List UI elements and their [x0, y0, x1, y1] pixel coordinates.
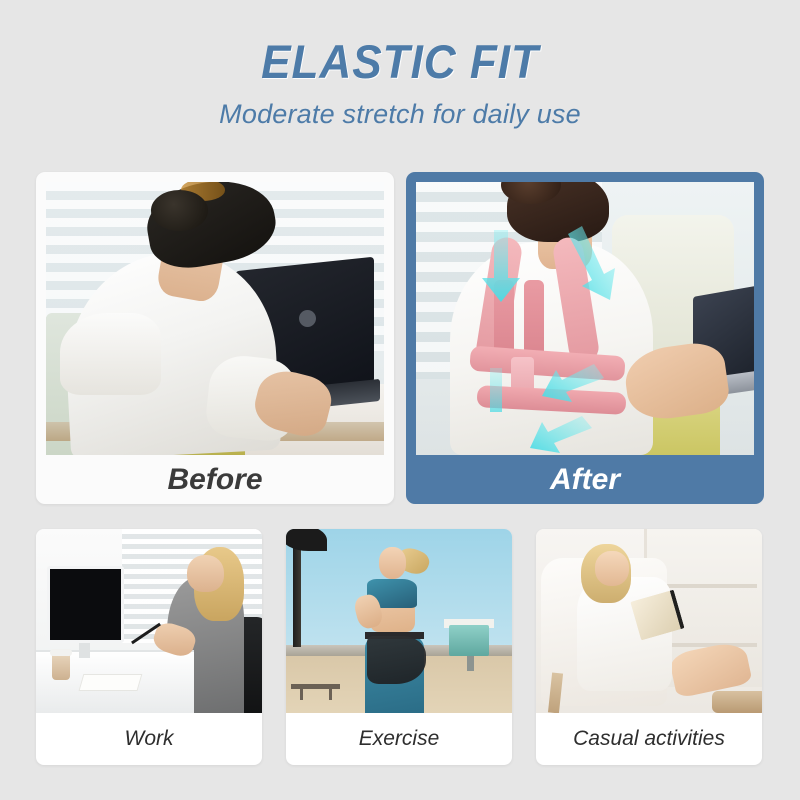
comparison-row: Before: [36, 172, 764, 504]
use-case-card-exercise[interactable]: Exercise: [286, 529, 512, 765]
casual-activities-photo: [536, 529, 762, 713]
use-case-row: Work: [36, 529, 764, 765]
page-title: ELASTIC FIT: [24, 38, 776, 85]
comparison-card-after[interactable]: After: [406, 172, 764, 504]
before-photo: [46, 182, 384, 455]
after-photo: [416, 182, 754, 455]
support-arrows-icon: [416, 182, 754, 455]
page-subtitle: Moderate stretch for daily use: [0, 101, 800, 128]
comparison-card-before[interactable]: Before: [36, 172, 394, 504]
use-case-label-work: Work: [36, 713, 262, 765]
before-label: Before: [46, 455, 384, 504]
use-case-card-casual-activities[interactable]: Casual activities: [536, 529, 762, 765]
use-case-label-casual-activities: Casual activities: [536, 713, 762, 765]
header: ELASTIC FIT Moderate stretch for daily u…: [0, 0, 800, 128]
use-case-label-exercise: Exercise: [286, 713, 512, 765]
after-label: After: [416, 455, 754, 504]
monitor-icon: [47, 566, 124, 643]
exercise-photo: [286, 529, 512, 713]
use-case-card-work[interactable]: Work: [36, 529, 262, 765]
work-photo: [36, 529, 262, 713]
